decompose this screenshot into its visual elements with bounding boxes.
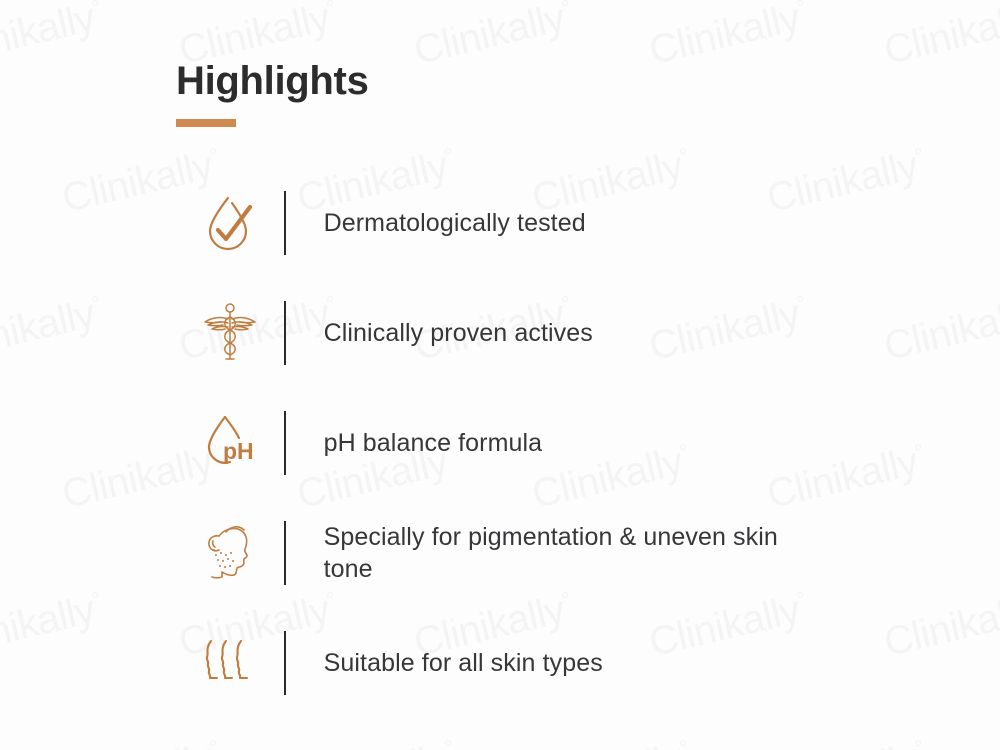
page-title: Highlights — [176, 55, 369, 107]
highlight-row: Clinically proven actives — [176, 278, 936, 388]
ph-droplet-icon: pH — [176, 413, 284, 473]
highlight-row: Dermatologically tested — [176, 168, 936, 278]
row-divider — [284, 301, 286, 365]
highlights-list: Dermatologically tested — [176, 168, 936, 718]
title-accent-bar — [176, 119, 236, 127]
highlight-row: pH pH balance formula — [176, 388, 936, 498]
highlight-label: Dermatologically tested — [324, 207, 586, 239]
face-pigmentation-icon — [176, 522, 284, 584]
row-divider — [284, 191, 286, 255]
row-divider — [284, 521, 286, 585]
highlight-row: Specially for pigmentation & uneven skin… — [176, 498, 936, 608]
caduceus-icon — [176, 301, 284, 365]
ph-icon-text: pH — [223, 438, 254, 464]
highlights-header: Highlights — [176, 55, 369, 127]
highlight-label: Suitable for all skin types — [324, 647, 603, 679]
highlights-page: Highlights Dermatologically tested — [0, 0, 1000, 750]
row-divider — [284, 631, 286, 695]
highlight-label: Clinically proven actives — [324, 317, 593, 349]
droplet-check-icon — [176, 192, 284, 254]
highlight-label: pH balance formula — [324, 427, 543, 459]
highlight-row: Suitable for all skin types — [176, 608, 936, 718]
skin-types-faces-icon — [176, 635, 284, 691]
row-divider — [284, 411, 286, 475]
highlight-label: Specially for pigmentation & uneven skin… — [324, 521, 794, 585]
